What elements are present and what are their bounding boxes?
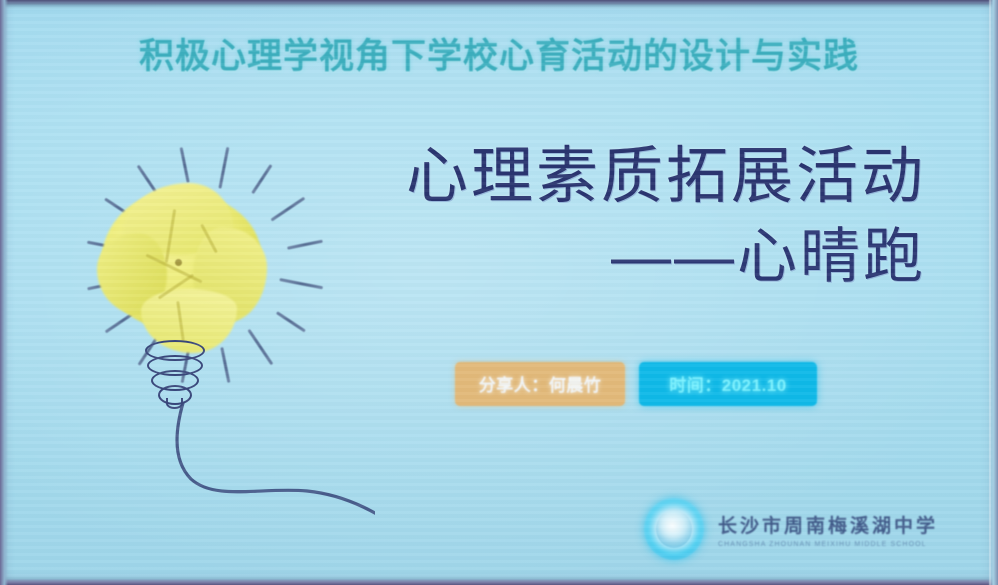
date-badge: 时间：2021.10 <box>639 362 817 406</box>
school-logo-text: 长沙市周南梅溪湖中学 CHANGSHA ZHOUNAN MEIXIHU MIDD… <box>718 511 938 548</box>
light-ray <box>270 197 305 222</box>
header-title: 积极心理学视角下学校心育活动的设计与实践 <box>139 28 859 79</box>
lightbulb-illustration <box>35 95 375 525</box>
light-ray <box>180 147 190 183</box>
crumpled-paper-bulb <box>97 181 265 349</box>
hand-drawn-cord-icon <box>55 395 375 525</box>
slide-title: 心理素质拓展活动 <box>386 140 926 214</box>
light-ray <box>276 311 306 332</box>
slide-header: 积极心理学视角下学校心育活动的设计与实践 <box>0 26 998 80</box>
light-ray <box>220 347 230 383</box>
light-ray <box>287 240 323 250</box>
school-emblem-icon <box>644 498 704 560</box>
presenter-badge: 分享人：何晨竹 <box>455 362 625 406</box>
slide-subtitle: ——心晴跑 <box>386 222 926 292</box>
headline-block: 心理素质拓展活动 ——心晴跑 <box>386 140 926 292</box>
meta-badges: 分享人：何晨竹 时间：2021.10 <box>455 362 817 406</box>
presentation-slide: 积极心理学视角下学校心育活动的设计与实践 心理素质拓展活动 ——心晴跑 分享人：… <box>0 0 998 585</box>
light-ray <box>279 278 323 289</box>
school-logo: 长沙市周南梅溪湖中学 CHANGSHA ZHOUNAN MEIXIHU MIDD… <box>644 498 938 560</box>
school-name-en: CHANGSHA ZHOUNAN MEIXIHU MIDDLE SCHOOL <box>718 541 938 548</box>
school-name-cn: 长沙市周南梅溪湖中学 <box>718 511 938 538</box>
